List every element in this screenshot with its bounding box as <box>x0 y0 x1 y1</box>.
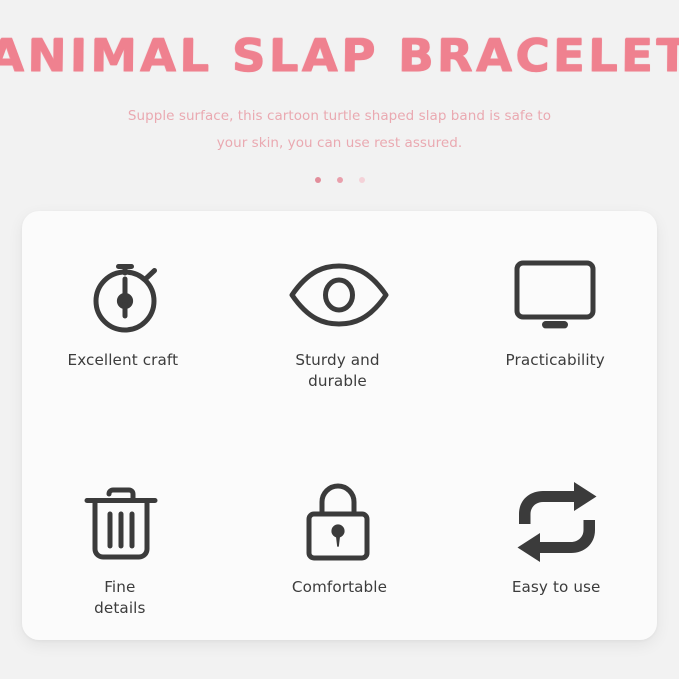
refresh-cycle-icon <box>511 480 603 564</box>
hero-banner: ANIMAL SLAP BRACELETS Supple surface, th… <box>0 0 679 184</box>
feature-item-easy-to-use: Easy to use <box>445 426 657 641</box>
feature-label: Fine details <box>94 577 145 619</box>
page-title: ANIMAL SLAP BRACELETS <box>0 33 679 78</box>
carousel-pagination[interactable] <box>0 176 679 184</box>
lock-icon <box>292 480 384 564</box>
feature-item-sturdy-and-durable: Sturdy and durable <box>234 211 446 426</box>
feature-card: Excellent craft Sturdy and durable Pract… <box>22 211 657 640</box>
feature-item-fine-details: Fine details <box>22 426 234 641</box>
hero-subtitle-line-2: your skin, you can use rest assured. <box>0 130 679 157</box>
feature-label: Comfortable <box>292 577 387 598</box>
feature-item-excellent-craft: Excellent craft <box>22 211 234 426</box>
carousel-dot-2[interactable] <box>337 177 343 183</box>
stopwatch-icon <box>79 253 171 337</box>
eye-icon <box>293 253 385 337</box>
carousel-dot-1[interactable] <box>315 177 321 183</box>
trash-can-icon <box>75 480 167 564</box>
feature-label: Sturdy and durable <box>295 350 379 392</box>
feature-grid: Excellent craft Sturdy and durable Pract… <box>22 211 657 640</box>
monitor-icon <box>509 253 601 337</box>
feature-label: Excellent craft <box>68 350 179 371</box>
feature-label: Practicability <box>506 350 605 371</box>
feature-item-practicability: Practicability <box>445 211 657 426</box>
feature-label: Easy to use <box>512 577 601 598</box>
hero-subtitle: Supple surface, this cartoon turtle shap… <box>0 103 679 157</box>
feature-item-comfortable: Comfortable <box>234 426 446 641</box>
hero-subtitle-line-1: Supple surface, this cartoon turtle shap… <box>0 103 679 130</box>
carousel-dot-3[interactable] <box>359 177 365 183</box>
